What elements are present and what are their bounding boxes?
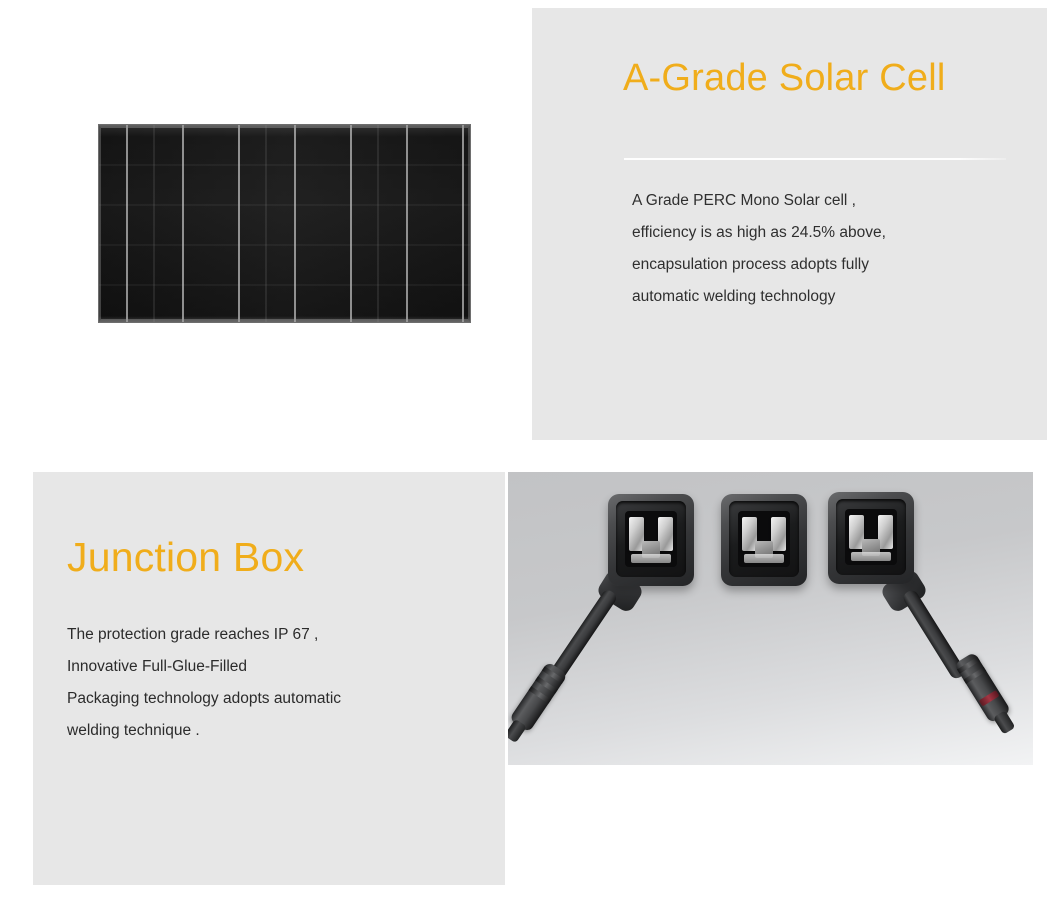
junction-box-heading: Junction Box <box>67 533 304 581</box>
body-line: Packaging technology adopts automatic <box>67 683 467 715</box>
junction-box-left <box>608 494 694 586</box>
junction-box-body: The protection grade reaches IP 67 , Inn… <box>67 619 467 747</box>
solar-panel-frame <box>99 125 470 322</box>
body-line: welding technique . <box>67 715 467 747</box>
body-line: Innovative Full-Glue-Filled <box>67 651 467 683</box>
body-line: The protection grade reaches IP 67 , <box>67 619 467 651</box>
body-line: automatic welding technology <box>632 281 962 313</box>
body-line: encapsulation process adopts fully <box>632 249 962 281</box>
solar-panel-image <box>99 125 470 322</box>
body-line: efficiency is as high as 24.5% above, <box>632 217 962 249</box>
junction-box-image <box>508 472 1033 765</box>
junction-box-right <box>828 492 914 584</box>
heading-divider <box>624 158 1006 160</box>
mc4-connector-left <box>509 661 568 732</box>
junction-box-panel: Junction Box The protection grade reache… <box>33 472 505 885</box>
junction-box-middle <box>721 494 807 586</box>
a-grade-solar-cell-body: A Grade PERC Mono Solar cell , efficienc… <box>632 185 962 313</box>
a-grade-solar-cell-panel: A-Grade Solar Cell A Grade PERC Mono Sol… <box>532 8 1047 440</box>
a-grade-solar-cell-heading: A-Grade Solar Cell <box>623 52 983 104</box>
body-line: A Grade PERC Mono Solar cell , <box>632 185 962 217</box>
mc4-connector-right <box>954 652 1011 724</box>
